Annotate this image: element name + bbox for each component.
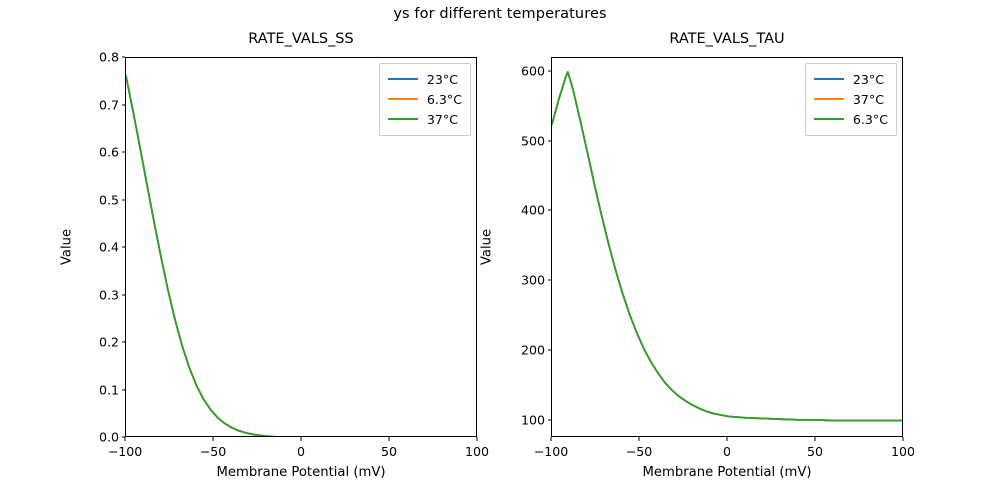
legend-color-swatch (814, 118, 844, 120)
x-tick-label: −100 (534, 444, 569, 459)
x-tick-label: −50 (626, 444, 653, 459)
x-tick-mark (477, 437, 478, 441)
legend-color-swatch (388, 78, 418, 80)
x-tick-label: −50 (200, 444, 227, 459)
legend-color-swatch (814, 78, 844, 80)
y-tick-label: 0.4 (99, 240, 119, 255)
y-tick-mark (122, 57, 126, 58)
y-tick-label: 100 (521, 412, 545, 427)
x-tick-label: 50 (807, 444, 823, 459)
x-tick-mark (389, 437, 390, 441)
x-tick-label: 100 (465, 444, 489, 459)
y-tick-mark (122, 294, 126, 295)
y-tick-label: 0.7 (99, 97, 119, 112)
legend-entry[interactable]: 6.3°C (814, 109, 888, 129)
subplot-title-left: RATE_VALS_SS (125, 31, 477, 47)
legend-entry[interactable]: 37°C (814, 89, 888, 109)
y-tick-mark (122, 247, 126, 248)
y-tick-label: 0.6 (99, 145, 119, 160)
x-axis-label-left: Membrane Potential (mV) (125, 465, 477, 480)
y-tick-mark (122, 389, 126, 390)
y-tick-label: 600 (521, 63, 545, 78)
y-tick-label: 0.0 (99, 430, 119, 445)
x-tick-mark (125, 437, 126, 441)
y-tick-mark (122, 104, 126, 105)
subplot-rate-vals-tau: RATE_VALS_TAU Value Membrane Potential (… (551, 57, 903, 437)
x-tick-mark (903, 437, 904, 441)
x-tick-label: 100 (891, 444, 915, 459)
legend-entry[interactable]: 6.3°C (388, 89, 462, 109)
legend-color-swatch (388, 98, 418, 100)
x-tick-mark (815, 437, 816, 441)
y-tick-mark (548, 140, 552, 141)
x-tick-mark (639, 437, 640, 441)
x-tick-label: 50 (381, 444, 397, 459)
legend-entry[interactable]: 23°C (388, 69, 462, 89)
legend-label: 6.3°C (853, 112, 888, 127)
y-tick-label: 0.3 (99, 287, 119, 302)
matplotlib-figure: ys for different temperatures RATE_VALS_… (0, 0, 1000, 500)
legend-right[interactable]: 23°C37°C6.3°C (805, 63, 897, 136)
x-tick-mark (727, 437, 728, 441)
y-tick-mark (122, 342, 126, 343)
figure-suptitle: ys for different temperatures (0, 6, 1000, 22)
legend-left[interactable]: 23°C6.3°C37°C (379, 63, 471, 136)
subplot-rate-vals-ss: RATE_VALS_SS Value Membrane Potential (m… (125, 57, 477, 437)
x-tick-label: 0 (297, 444, 305, 459)
y-tick-mark (548, 349, 552, 350)
legend-color-swatch (814, 98, 844, 100)
legend-label: 23°C (853, 72, 884, 87)
x-tick-mark (551, 437, 552, 441)
x-tick-label: −100 (108, 444, 143, 459)
legend-entry[interactable]: 37°C (388, 109, 462, 129)
y-tick-mark (122, 199, 126, 200)
legend-color-swatch (388, 118, 418, 120)
y-axis-label-right: Value (480, 229, 495, 265)
y-tick-mark (548, 210, 552, 211)
subplot-title-right: RATE_VALS_TAU (551, 31, 903, 47)
y-tick-label: 0.1 (99, 382, 119, 397)
y-tick-label: 0.2 (99, 335, 119, 350)
y-tick-mark (122, 152, 126, 153)
legend-entry[interactable]: 23°C (814, 69, 888, 89)
x-tick-mark (213, 437, 214, 441)
y-tick-label: 200 (521, 342, 545, 357)
x-tick-mark (301, 437, 302, 441)
y-tick-label: 0.8 (99, 50, 119, 65)
y-tick-mark (548, 419, 552, 420)
y-tick-mark (548, 280, 552, 281)
y-tick-label: 300 (521, 273, 545, 288)
y-tick-label: 400 (521, 203, 545, 218)
legend-label: 37°C (427, 112, 458, 127)
legend-label: 37°C (853, 92, 884, 107)
x-axis-label-right: Membrane Potential (mV) (551, 465, 903, 480)
x-tick-label: 0 (723, 444, 731, 459)
legend-label: 6.3°C (427, 92, 462, 107)
y-tick-label: 0.5 (99, 192, 119, 207)
y-tick-label: 500 (521, 133, 545, 148)
y-axis-label-left: Value (60, 229, 75, 265)
y-tick-mark (548, 70, 552, 71)
legend-label: 23°C (427, 72, 458, 87)
